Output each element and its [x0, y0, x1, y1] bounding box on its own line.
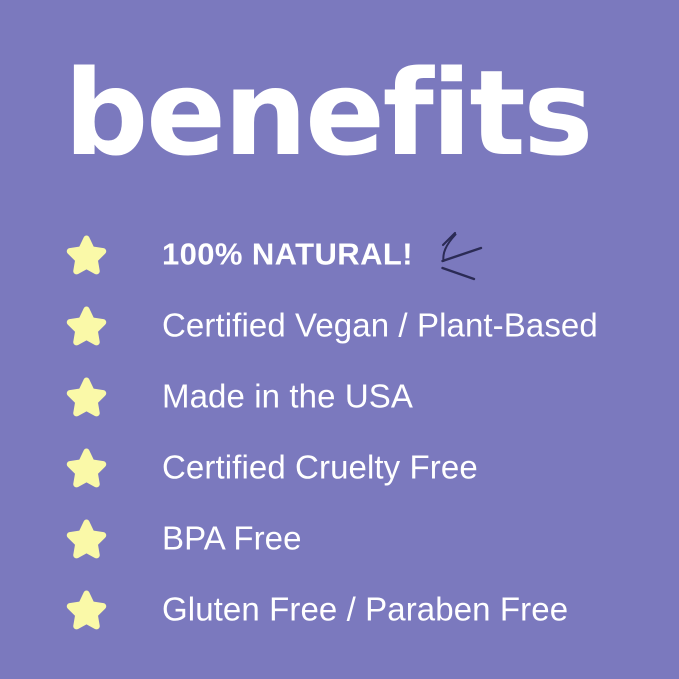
list-item: Gluten Free / Paraben Free	[0, 573, 679, 644]
benefit-label: Made in the USA	[162, 379, 413, 412]
star-icon	[66, 588, 107, 629]
list-item: 100% NATURAL!	[0, 218, 679, 289]
list-item: Certified Cruelty Free	[0, 431, 679, 502]
list-item: Made in the USA	[0, 360, 679, 431]
benefit-label: 100% NATURAL!	[162, 238, 413, 269]
star-icon	[66, 304, 107, 345]
sparkle-icon	[436, 223, 490, 285]
benefits-list: 100% NATURAL! Certified Vega	[0, 218, 679, 644]
benefit-label: BPA Free	[162, 521, 302, 554]
star-icon	[66, 233, 107, 274]
star-icon	[66, 446, 107, 487]
page-title: benefits	[64, 52, 591, 176]
benefits-graphic: benefits 100% NATURAL!	[0, 0, 679, 679]
benefit-label: Gluten Free / Paraben Free	[162, 592, 568, 625]
list-item: Certified Vegan / Plant-Based	[0, 289, 679, 360]
star-icon	[66, 375, 107, 416]
list-item: BPA Free	[0, 502, 679, 573]
benefit-label: Certified Cruelty Free	[162, 450, 478, 483]
benefit-label: Certified Vegan / Plant-Based	[162, 308, 598, 341]
star-icon	[66, 517, 107, 558]
